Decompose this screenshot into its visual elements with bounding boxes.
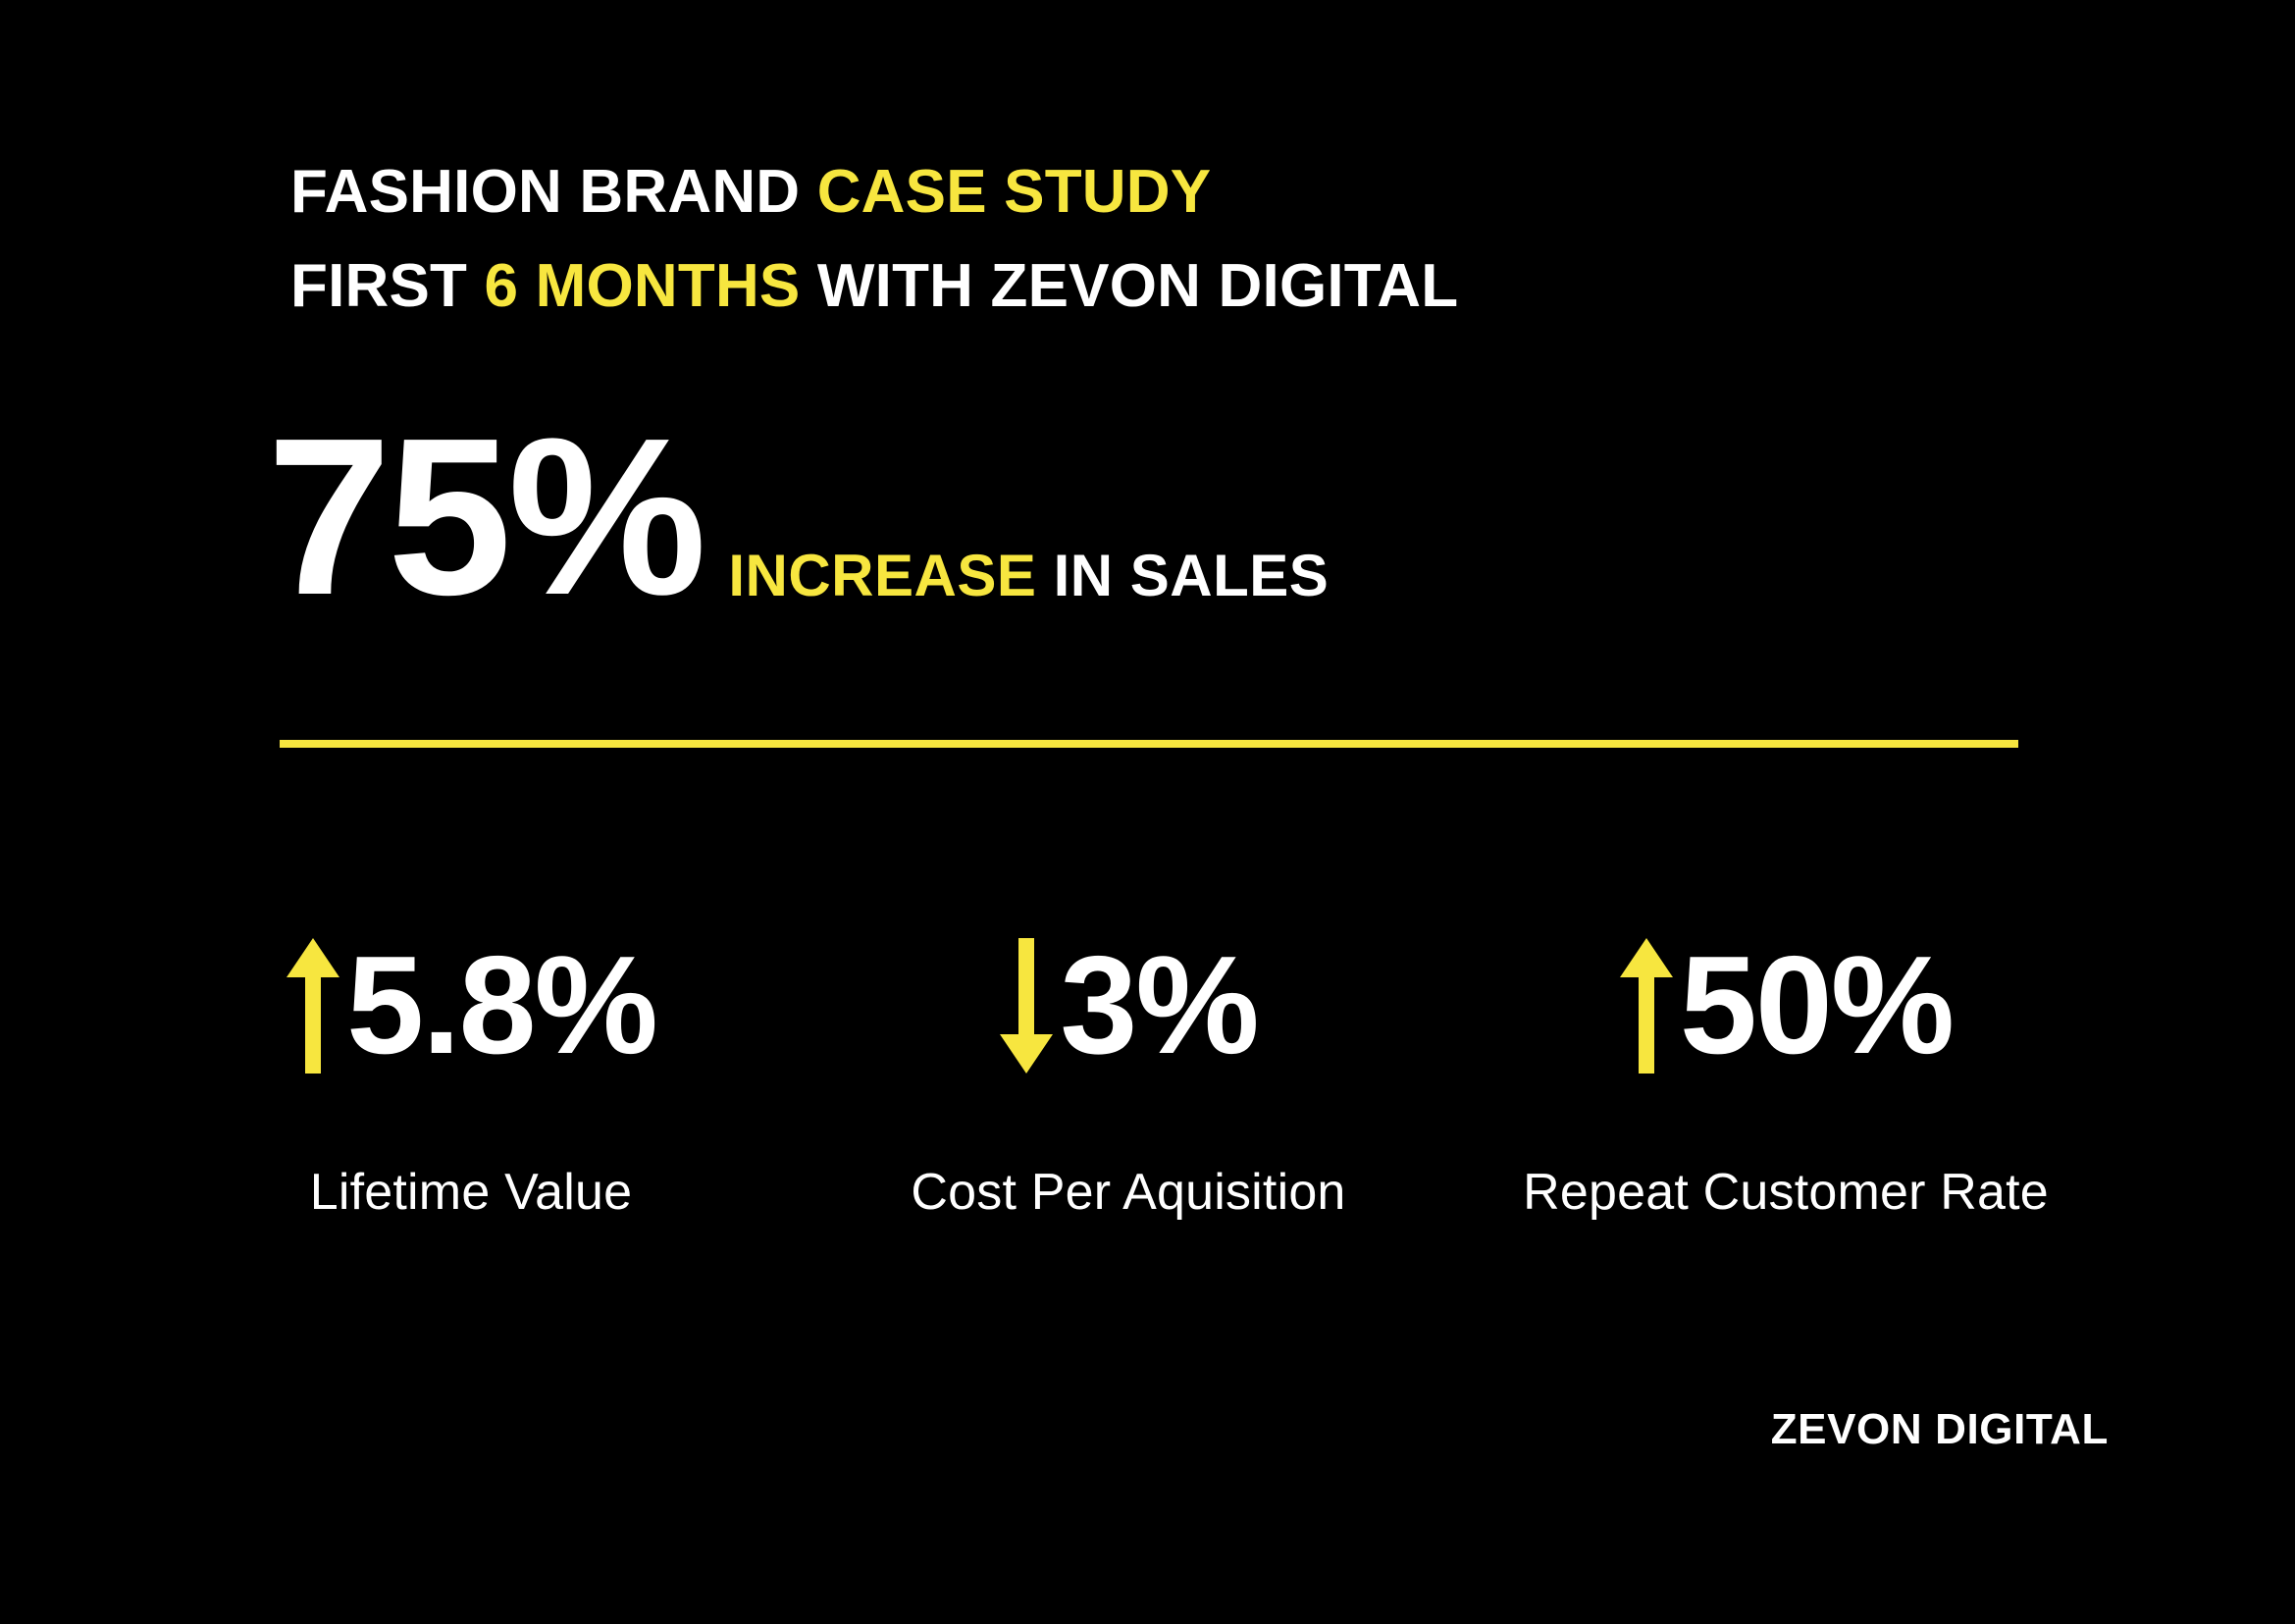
- arrow-up-icon: [286, 938, 340, 1074]
- metric-card-repeat-customer-rate: 50% Repeat Customer Rate: [1452, 922, 2119, 1221]
- hero-caption-rest: IN SALES: [1036, 543, 1329, 608]
- headline-line-2-plain-after: WITH ZEVON DIGITAL: [801, 252, 1459, 320]
- metrics-row: 5.8% Lifetime Value 3% Cost Per Aquisiti…: [0, 922, 2295, 1256]
- metric-value-row: 5.8%: [157, 922, 785, 1089]
- poster-canvas: FASHION BRAND CASE STUDY FIRST 6 MONTHS …: [0, 0, 2295, 1624]
- hero-stat-caption: INCREASE IN SALES: [703, 545, 1329, 623]
- headline-line-1-plain: FASHION BRAND: [290, 158, 817, 226]
- metric-card-lifetime-value: 5.8% Lifetime Value: [157, 922, 785, 1221]
- metric-label: Lifetime Value: [157, 1164, 785, 1221]
- hero-stat-block: 75% INCREASE IN SALES: [267, 412, 1329, 623]
- hero-stat-value: 75%: [267, 412, 703, 623]
- headline-line-2-accent: 6 MONTHS: [485, 252, 801, 320]
- brand-logo-wordmark: ZEVON DIGITAL: [1771, 1405, 2109, 1454]
- headline-line-2: FIRST 6 MONTHS WITH ZEVON DIGITAL: [290, 239, 2057, 334]
- headline-line-1-accent: CASE STUDY: [817, 158, 1212, 226]
- metric-value: 5.8%: [346, 936, 656, 1075]
- metric-label: Cost Per Aquisition: [814, 1164, 1442, 1221]
- hero-caption-accent: INCREASE: [728, 543, 1036, 608]
- headline-line-1: FASHION BRAND CASE STUDY: [290, 145, 2057, 239]
- metric-label: Repeat Customer Rate: [1452, 1164, 2119, 1221]
- headline-block: FASHION BRAND CASE STUDY FIRST 6 MONTHS …: [290, 145, 2057, 334]
- metric-value-row: 3%: [814, 922, 1442, 1089]
- metric-value-row: 50%: [1452, 922, 2119, 1089]
- accent-divider-rule: [280, 740, 2018, 748]
- metric-value: 50%: [1680, 936, 1953, 1075]
- metric-card-cost-per-acquisition: 3% Cost Per Aquisition: [814, 922, 1442, 1221]
- metric-value: 3%: [1060, 936, 1257, 1075]
- arrow-up-icon: [1619, 938, 1674, 1074]
- arrow-down-icon: [999, 938, 1054, 1074]
- headline-line-2-plain-before: FIRST: [290, 252, 485, 320]
